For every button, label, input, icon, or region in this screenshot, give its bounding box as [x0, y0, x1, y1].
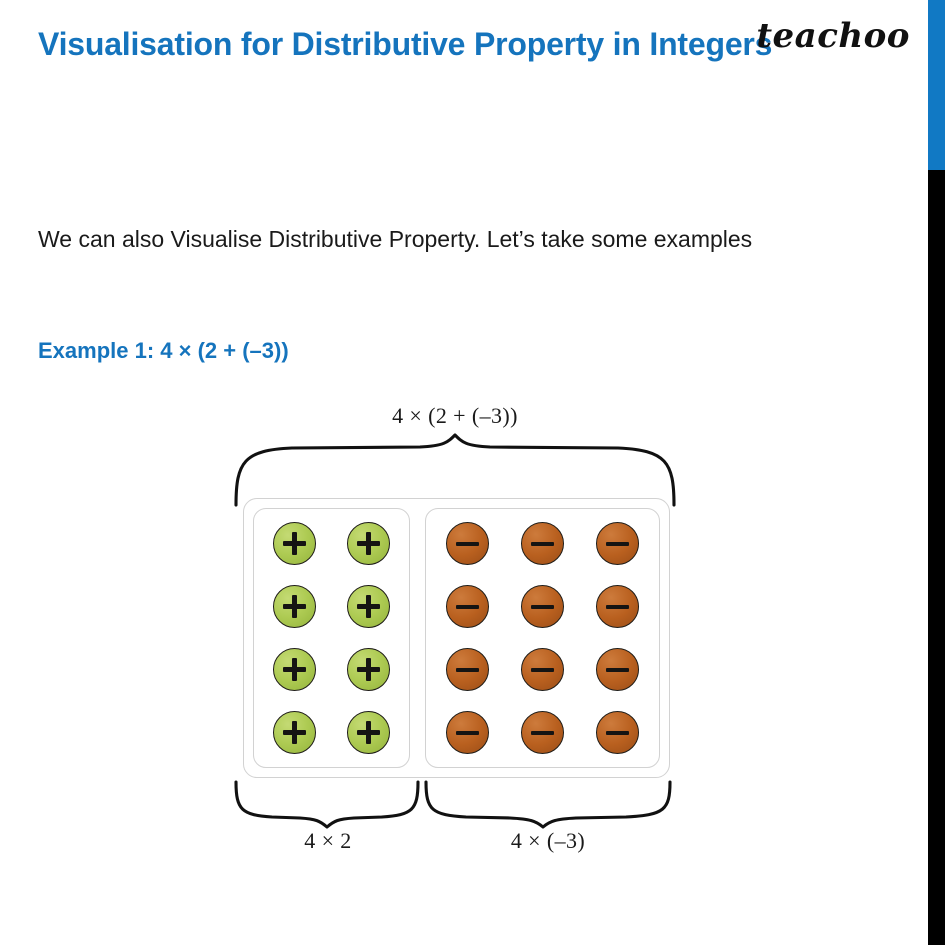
minus-icon — [606, 532, 629, 555]
negative-counter — [446, 648, 489, 691]
negative-counter — [446, 711, 489, 754]
negative-counter — [521, 648, 564, 691]
plus-icon — [357, 721, 380, 744]
minus-icon — [531, 532, 554, 555]
plus-icon — [283, 532, 306, 555]
negative-counter — [446, 585, 489, 628]
plus-icon — [283, 595, 306, 618]
example-heading: Example 1: 4 × (2 + (–3)) — [38, 338, 289, 364]
minus-icon — [456, 658, 479, 681]
positive-counter — [273, 522, 316, 565]
negative-counter — [596, 585, 639, 628]
negative-counter — [446, 522, 489, 565]
negative-counters-grid — [430, 512, 655, 764]
positive-counter — [273, 711, 316, 754]
minus-icon — [456, 532, 479, 555]
minus-icon — [606, 721, 629, 744]
plus-icon — [357, 595, 380, 618]
negative-counter — [596, 711, 639, 754]
negative-counter — [521, 522, 564, 565]
minus-icon — [456, 721, 479, 744]
plus-icon — [283, 721, 306, 744]
positive-counters-grid — [258, 512, 405, 764]
right-edge-blue-bar — [928, 0, 945, 170]
positive-counter — [273, 648, 316, 691]
distributive-property-diagram: 4 × (2 + (–3)) 4 × — [0, 390, 900, 890]
positive-counter — [347, 648, 390, 691]
intro-paragraph: We can also Visualise Distributive Prope… — [38, 210, 858, 269]
plus-icon — [283, 658, 306, 681]
minus-icon — [456, 595, 479, 618]
left-group-label: 4 × 2 — [237, 828, 419, 854]
positive-counter — [273, 585, 316, 628]
negative-counter — [521, 585, 564, 628]
negative-counter — [521, 711, 564, 754]
plus-icon — [357, 532, 380, 555]
positive-counter — [347, 711, 390, 754]
positive-counter — [347, 522, 390, 565]
minus-icon — [531, 658, 554, 681]
minus-icon — [531, 595, 554, 618]
minus-icon — [606, 658, 629, 681]
header: Visualisation for Distributive Property … — [38, 22, 778, 67]
negative-counter — [596, 522, 639, 565]
negative-counter — [596, 648, 639, 691]
positive-counter — [347, 585, 390, 628]
page-title: Visualisation for Distributive Property … — [38, 22, 778, 67]
plus-icon — [357, 658, 380, 681]
right-group-label: 4 × (–3) — [424, 828, 672, 854]
teachoo-logo: teachoo — [756, 16, 910, 56]
minus-icon — [531, 721, 554, 744]
minus-icon — [606, 595, 629, 618]
right-edge-black-bar — [928, 170, 945, 945]
